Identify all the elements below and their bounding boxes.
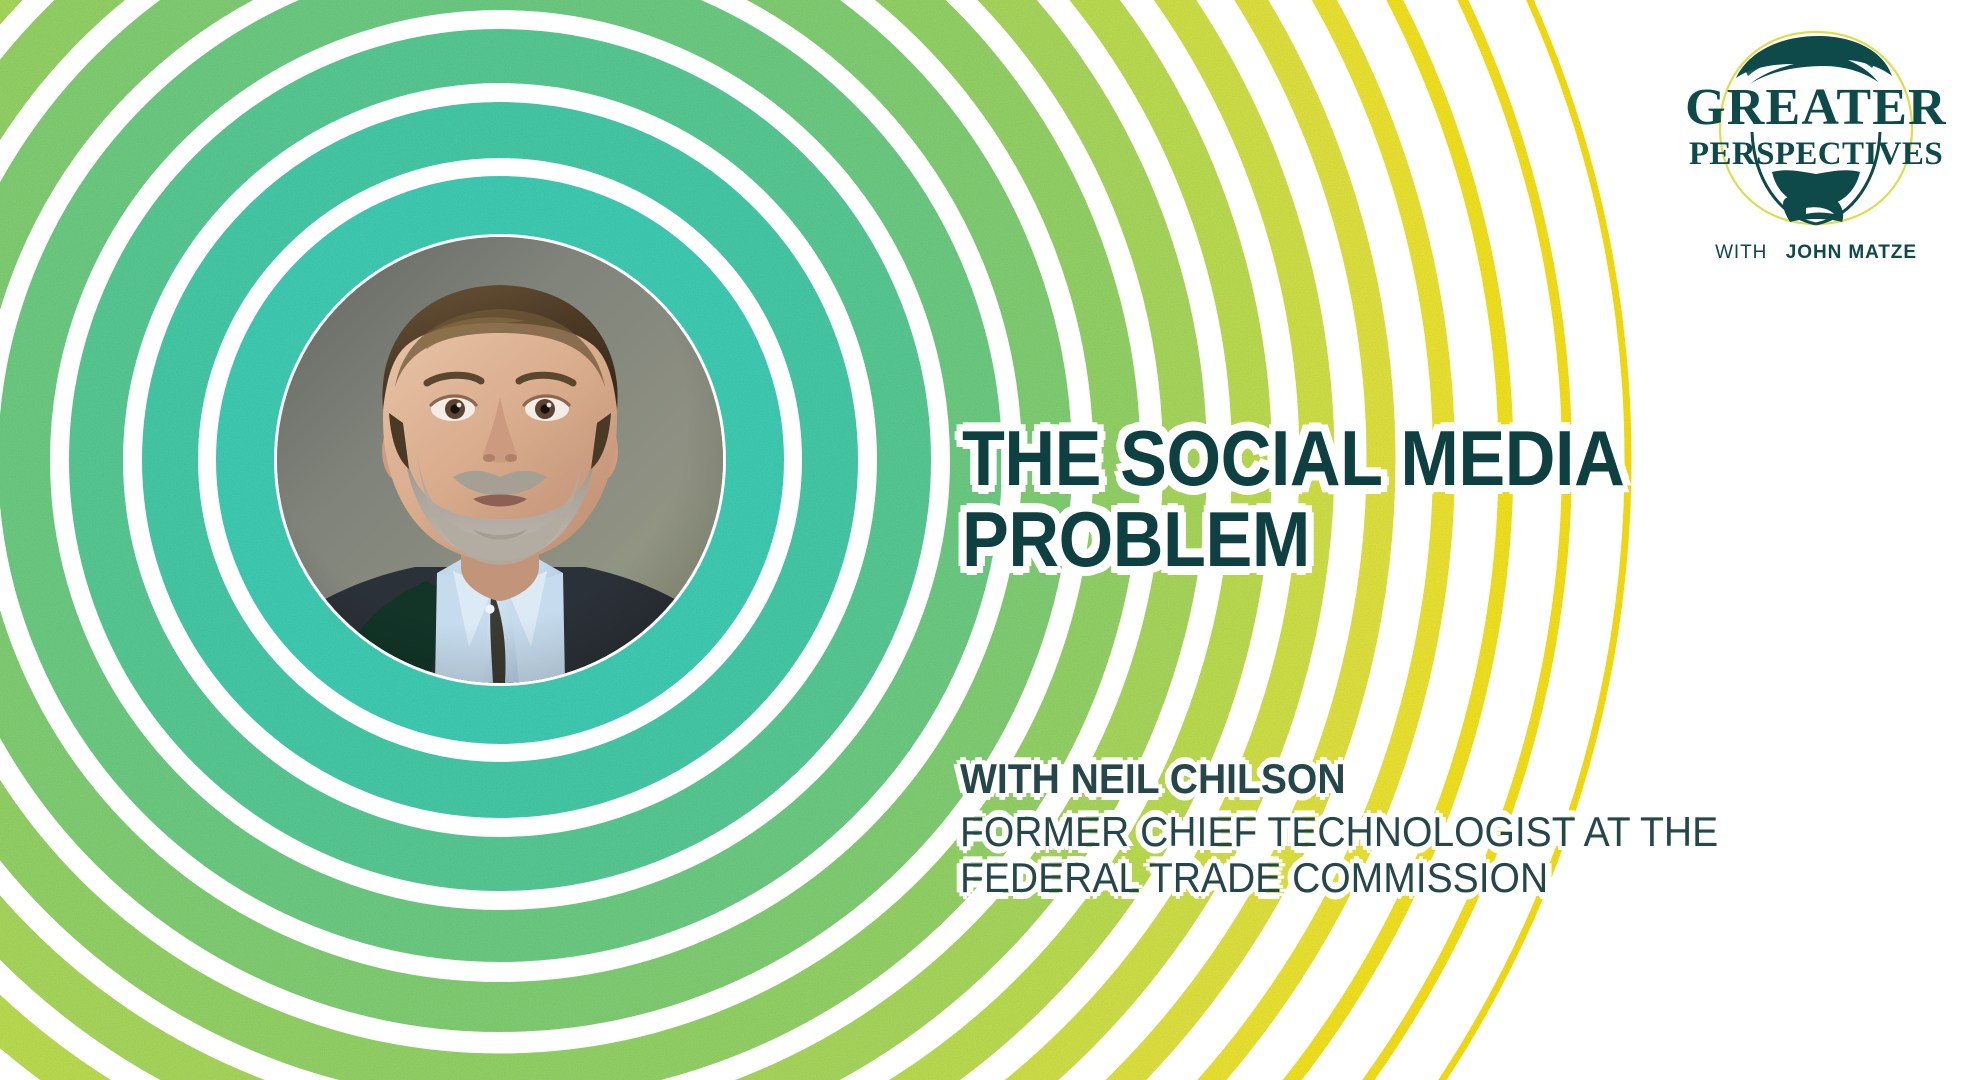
logo-word-greater: GREATER <box>1685 79 1947 136</box>
episode-title-line-1: THE SOCIAL MEDIA <box>962 418 1844 499</box>
guest-name-line: WITH NEIL CHILSON <box>960 756 1890 803</box>
logo-beard-icon <box>1772 170 1860 222</box>
byline-host-name: JOHN MATZE <box>1786 242 1917 263</box>
host-byline: WITH JOHN MATZE <box>1676 242 1956 264</box>
podcast-episode-poster: GREATER PERSPECTIVES WITH JOHN MATZE THE <box>0 0 1980 1080</box>
portrait-circle-clip <box>277 237 723 683</box>
show-logo[interactable]: GREATER PERSPECTIVES WITH JOHN MATZE <box>1676 22 1956 292</box>
episode-title-line-2: PROBLEM <box>962 499 1844 580</box>
logo-mark: GREATER PERSPECTIVES <box>1676 22 1956 234</box>
guest-portrait <box>277 237 723 683</box>
logo-word-perspectives: PERSPECTIVES <box>1689 136 1943 172</box>
guest-role-line-1: FORMER CHIEF TECHNOLOGIST AT THE <box>960 809 1890 856</box>
logo-svg: GREATER PERSPECTIVES <box>1676 22 1956 234</box>
episode-title: THE SOCIAL MEDIA PROBLEM <box>962 418 1942 580</box>
logo-hair-icon <box>1736 36 1892 84</box>
guest-role-line-2: FEDERAL TRADE COMMISSION <box>960 855 1890 902</box>
guest-credits: WITH NEIL CHILSON FORMER CHIEF TECHNOLOG… <box>960 756 1960 902</box>
byline-prefix: WITH <box>1715 242 1767 263</box>
portrait-illustration <box>277 237 723 683</box>
